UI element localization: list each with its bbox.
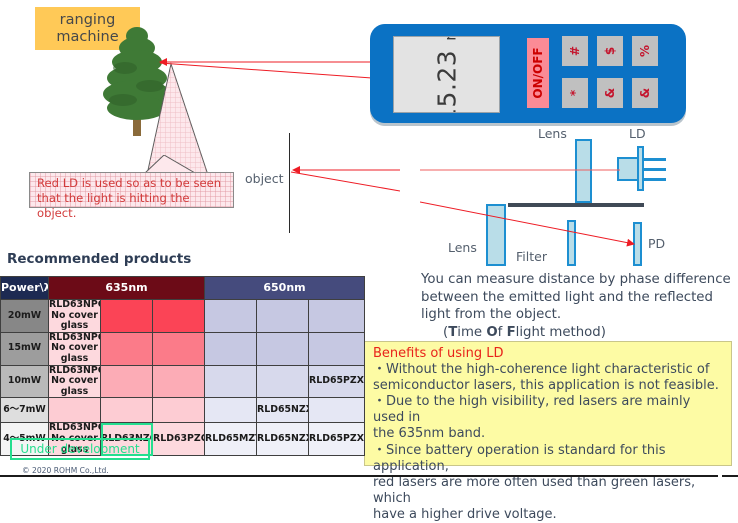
table-group-635: 635nm — [49, 277, 205, 300]
table-cell: RLD63NPC6No cover glass — [49, 365, 101, 398]
table-cell — [257, 332, 309, 365]
benefits-line-5: ・Since battery operation is standard for… — [373, 443, 724, 475]
slide-canvas: ranging machine — [0, 0, 738, 484]
device-keypad: # $ % * & & — [562, 36, 672, 112]
tof-bold-f: F — [507, 325, 516, 340]
table-cell — [101, 332, 153, 365]
display-unit: m — [441, 36, 459, 40]
tof-description: You can measure distance by phase differ… — [421, 271, 731, 341]
laser-ray-lines — [0, 0, 400, 260]
table-cell: RLD65PZX2 — [309, 423, 365, 456]
table-cell — [309, 300, 365, 333]
tof-f1: f — [498, 325, 507, 340]
table-body: 20mWRLD63NPC8No cover glass15mWRLD63NPC7… — [1, 300, 365, 456]
table-cell — [205, 398, 257, 423]
table-power-cell: 20mW — [1, 300, 49, 333]
table-cell: RLD63PZCA — [153, 423, 205, 456]
table-group-650: 650nm — [205, 277, 365, 300]
ranging-device: 15.23 m ON/OFF # $ % * & & — [370, 24, 686, 123]
benefits-line-7: have a higher drive voltage. — [373, 507, 724, 523]
table-cell — [101, 398, 153, 423]
benefits-box: Benefits of using LD ・Without the high-c… — [364, 341, 732, 466]
tof-rest: light method) — [516, 325, 606, 340]
keypad-button-1[interactable]: # — [562, 36, 588, 66]
table-power-cell: 10mW — [1, 365, 49, 398]
keypad-label-6: & — [639, 88, 651, 98]
table-header-row: Power\λ 635nm 650nm — [1, 277, 365, 300]
keypad-label-1: # — [569, 46, 581, 56]
benefits-line-3: ・Due to the high visibility, red lasers … — [373, 394, 724, 426]
benefits-line-6: red lasers are more often used than gree… — [373, 475, 724, 507]
display-value: 15.23 — [432, 49, 461, 113]
table-row: 15mWRLD63NPC7No cover glass — [1, 332, 365, 365]
power-button[interactable]: ON/OFF — [527, 38, 549, 108]
product-note: No cover glass — [49, 343, 100, 364]
benefits-line-1: ・Without the high-coherence light charac… — [373, 362, 724, 378]
table-cell — [153, 365, 205, 398]
table-cell — [205, 332, 257, 365]
table-cell — [101, 365, 153, 398]
optics-ray-lines — [420, 126, 738, 266]
legend-label: Under development — [20, 442, 139, 456]
table-cell: RLD65NZX2 — [257, 423, 309, 456]
power-button-label: ON/OFF — [531, 47, 545, 98]
tof-line-2: between the emitted light and the reflec… — [421, 289, 731, 307]
table-cell — [309, 332, 365, 365]
table-cell — [153, 398, 205, 423]
table-power-cell: 15mW — [1, 332, 49, 365]
table-row: 6～7mWRLD65NZX1 — [1, 398, 365, 423]
table-row: 20mWRLD63NPC8No cover glass — [1, 300, 365, 333]
table-cell — [153, 332, 205, 365]
keypad-label-3: % — [639, 45, 651, 57]
table-row: 10mWRLD63NPC6No cover glassRLD65PZX3 — [1, 365, 365, 398]
tof-ime: ime — [457, 325, 486, 340]
product-note: No cover glass — [49, 311, 100, 332]
table-power-cell: 6～7mW — [1, 398, 49, 423]
table-cell — [257, 365, 309, 398]
keypad-button-5[interactable]: & — [597, 78, 623, 108]
keypad-label-2: $ — [604, 47, 616, 55]
tof-bold-t: T — [448, 325, 457, 340]
table-cell — [101, 300, 153, 333]
footer-divider — [0, 475, 718, 477]
table-cell — [49, 398, 101, 423]
benefits-line-4: the 635nm band. — [373, 426, 724, 442]
legend-under-development: Under development — [10, 438, 150, 460]
recommended-products-table: Power\λ 635nm 650nm 20mWRLD63NPC8No cove… — [0, 276, 365, 456]
table-cell: RLD65PZX3 — [309, 365, 365, 398]
benefits-title: Benefits of using LD — [373, 346, 724, 362]
table-cell: RLD63NPC7No cover glass — [49, 332, 101, 365]
tof-line-4: (Time Of Flight method) — [421, 324, 731, 342]
keypad-button-4[interactable]: * — [562, 78, 588, 108]
keypad-button-3[interactable]: % — [632, 36, 658, 66]
page-title: Recommended products — [7, 251, 191, 267]
product-name: RLD63NPC8 — [49, 300, 100, 311]
table-cell — [205, 300, 257, 333]
keypad-button-2[interactable]: $ — [597, 36, 623, 66]
device-display: 15.23 m — [393, 36, 500, 113]
table-cell — [309, 398, 365, 423]
product-note: No cover glass — [49, 376, 100, 397]
tof-bold-o: O — [486, 325, 497, 340]
tof-line-3: light from the object. — [421, 306, 731, 324]
keypad-label-5: & — [604, 88, 616, 98]
keypad-label-4: * — [569, 90, 581, 96]
table-corner-header: Power\λ — [1, 277, 49, 300]
table-cell: RLD63NPC8No cover glass — [49, 300, 101, 333]
footer-divider-right — [722, 475, 738, 477]
tof-line-1: You can measure distance by phase differ… — [421, 271, 731, 289]
keypad-button-6[interactable]: & — [632, 78, 658, 108]
footer-copyright: © 2020 ROHM Co.,Ltd. — [22, 466, 109, 475]
optics-diagram: Lens LD Lens Filter PD — [420, 126, 738, 266]
table-cell: RLD65MZT7 — [205, 423, 257, 456]
table-cell — [257, 300, 309, 333]
table-cell: RLD65NZX1 — [257, 398, 309, 423]
table-cell — [153, 300, 205, 333]
benefits-line-2: semiconductor lasers, this application i… — [373, 378, 724, 394]
table-cell — [205, 365, 257, 398]
